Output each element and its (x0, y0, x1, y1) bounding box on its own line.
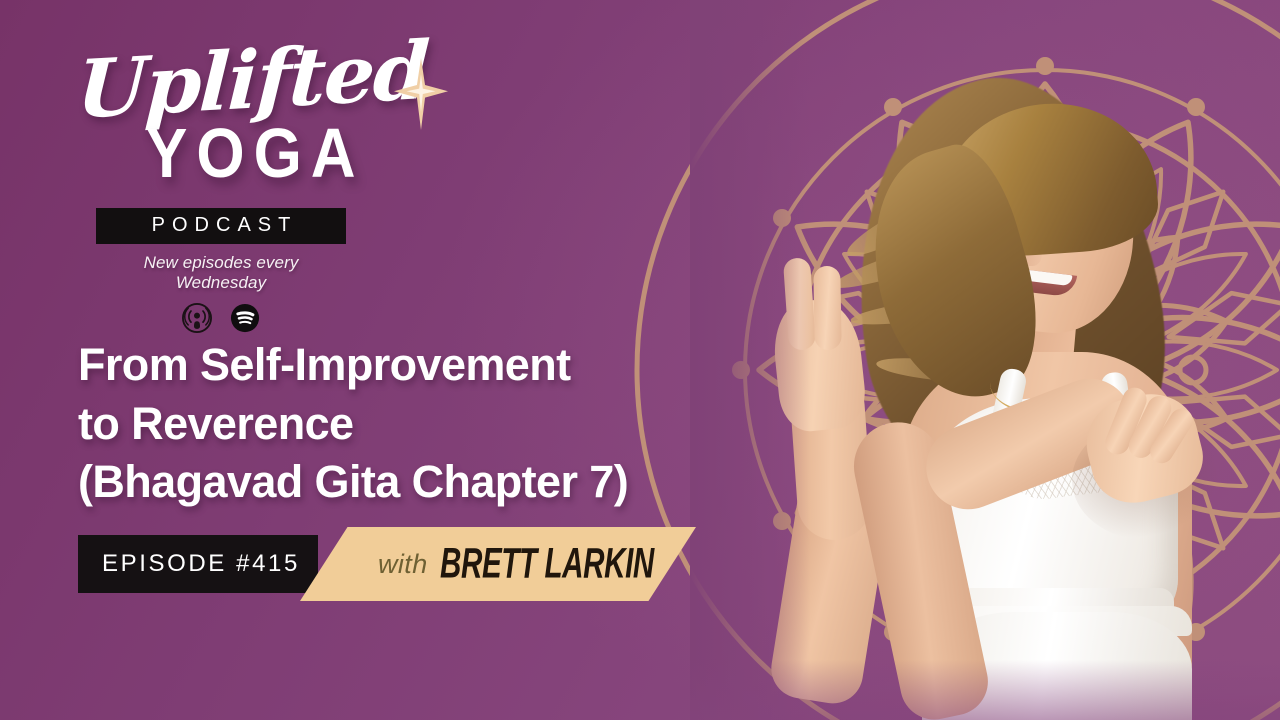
trademark-symbol: ™ (410, 92, 422, 106)
with-word: with (378, 549, 428, 580)
brand-script-name: Uplifted (75, 35, 420, 127)
apple-podcasts-icon[interactable] (182, 303, 212, 333)
episode-number-text: EPISODE #415 (102, 550, 300, 578)
release-schedule-tagline: New episodes every Wednesday (96, 253, 346, 293)
episode-number-badge: EPISODE #415 (78, 535, 318, 593)
brand-word-yoga: YOGA (146, 120, 418, 189)
show-logo: Uplifted ™ YOGA PODCAST New episodes eve… (78, 44, 418, 333)
episode-title-line: From Self-Improvement (78, 336, 768, 395)
podcast-cover-art: Uplifted ™ YOGA PODCAST New episodes eve… (0, 0, 1280, 720)
episode-title-line: to Reverence (78, 395, 768, 454)
episode-title: From Self-Improvement to Reverence (Bhag… (78, 336, 768, 512)
cover-text-panel: Uplifted ™ YOGA PODCAST New episodes eve… (0, 0, 700, 720)
spotify-icon[interactable] (230, 303, 260, 333)
host-portrait-photo (690, 0, 1280, 720)
finger (813, 266, 841, 350)
platform-icons (96, 303, 346, 333)
episode-title-line: (Bhagavad Gita Chapter 7) (78, 453, 768, 512)
host-banner: with BRETT LARKIN (300, 527, 696, 601)
podcast-label-text: PODCAST (145, 214, 298, 237)
podcast-label-bar: PODCAST (96, 208, 346, 244)
host-name: BRETT LARKIN (440, 540, 654, 588)
photo-bottom-fade (690, 660, 1280, 720)
